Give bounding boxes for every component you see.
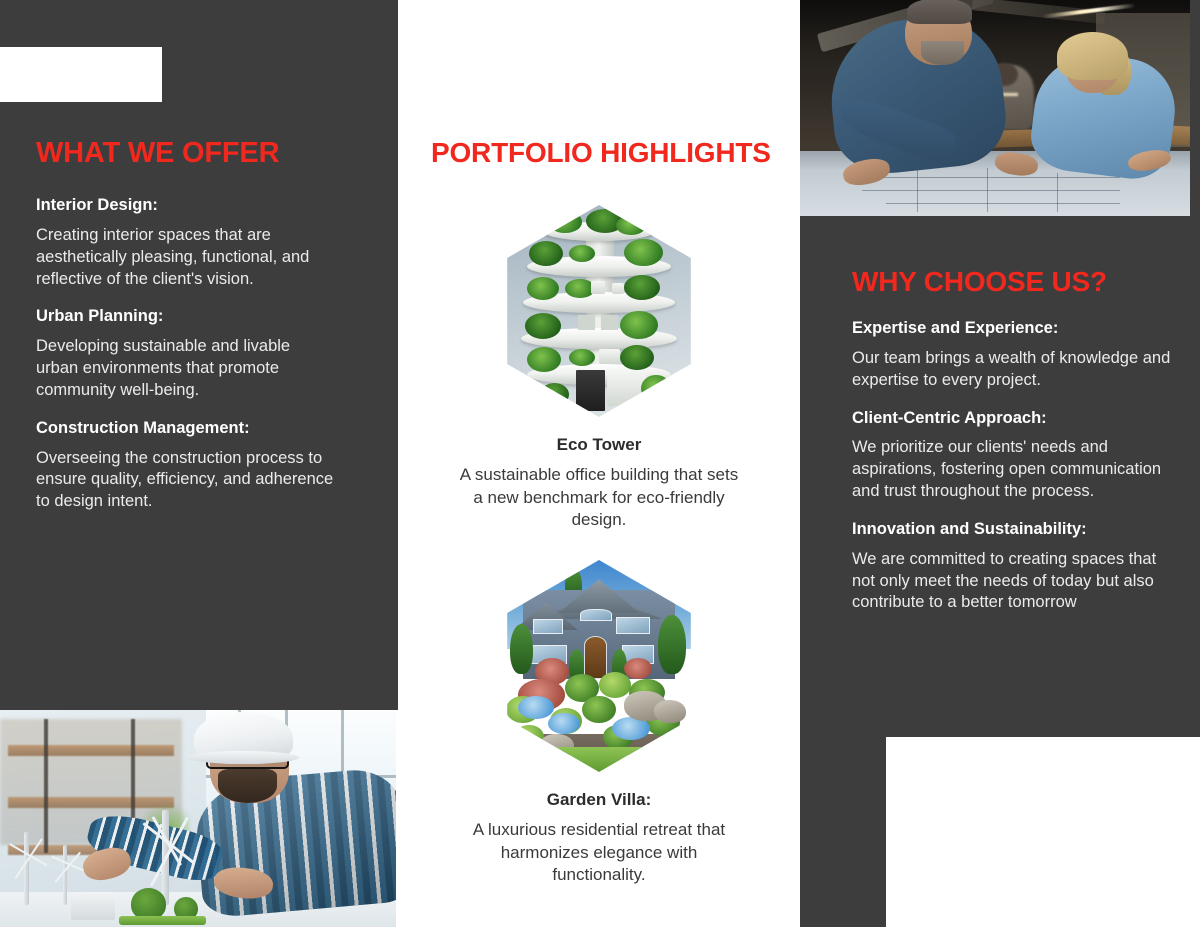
portfolio-highlights-heading: PORTFOLIO HIGHLIGHTS [431,138,771,167]
brochure-page: WHAT WE OFFER Interior Design: Creating … [0,0,1200,927]
service-body: Overseeing the construction process to e… [36,448,336,514]
what-we-offer-heading: WHAT WE OFFER [36,138,279,168]
hexagon-mask [493,205,705,417]
terrace-planter [599,349,620,364]
blueprint-line [987,168,988,211]
eco-tower-hexagon-image [493,205,705,417]
service-title: Construction Management: [36,418,336,439]
model-building [71,892,115,920]
turbine-tower-small [24,832,29,906]
front-lawn [493,747,705,772]
project-body: A luxurious residential retreat that har… [398,819,800,887]
service-body: Developing sustainable and livable urban… [36,336,336,402]
shelf-post [44,719,48,854]
service-item: Urban Planning: Developing sustainable a… [36,306,336,401]
project-title: Eco Tower [398,435,800,455]
terrace-planting [569,349,594,366]
villa-arch-window [580,609,612,622]
reason-body: We prioritize our clients' needs and asp… [852,437,1182,503]
landscape-rock [654,700,686,723]
project-body: A sustainable office building that sets … [398,464,800,532]
base-pavilion [607,370,645,406]
terrace-planting [624,239,662,267]
base-facade-panel [576,370,606,410]
service-item: Construction Management: Overseeing the … [36,418,336,513]
reason-body: We are committed to creating spaces that… [852,549,1182,615]
boxwood-shrub [599,672,631,697]
bottom-right-white-block [886,737,1200,927]
reason-body: Our team brings a wealth of knowledge an… [852,348,1182,392]
reason-title: Expertise and Experience: [852,318,1182,339]
garden-conifer [658,615,686,674]
blueprint-line [917,168,918,211]
villa-front-door [584,636,607,678]
reason-item: Client-Centric Approach: We prioritize o… [852,408,1182,503]
service-item: Interior Design: Creating interior space… [36,195,336,290]
shelf-board [8,745,174,756]
reason-title: Client-Centric Approach: [852,408,1182,429]
boxwood-shrub [582,696,616,724]
blueprint-line [886,203,1120,204]
terrace-planting [525,313,561,338]
service-title: Interior Design: [36,195,336,216]
terrace-planter [591,281,606,294]
villa-window [533,619,563,634]
garden-villa-hexagon-image [493,560,705,772]
turbine-tower-small [63,845,67,906]
why-choose-us-heading: WHY CHOOSE US? [852,267,1107,296]
project-title: Garden Villa: [398,790,800,810]
project-card: Garden Villa: A luxurious residential re… [398,560,800,887]
ground-planting [540,383,570,406]
architects-blueprint-photo [800,0,1190,216]
architect-man-beard [921,41,964,65]
reason-item: Expertise and Experience: Our team bring… [852,318,1182,392]
engineer-wind-turbine-model-photo [0,710,396,927]
architect-woman-hair [1057,32,1127,80]
services-list: Interior Design: Creating interior space… [36,195,336,513]
villa-window [616,617,650,634]
service-title: Urban Planning: [36,306,336,327]
blueprint-line [847,177,1120,178]
terrace-planting [569,245,594,262]
terrace-planting [548,211,582,232]
blue-flower-cluster [518,696,554,719]
tower-window [578,315,595,330]
red-maple-shrub [624,658,652,679]
terrace-planting [616,216,646,235]
reason-item: Innovation and Sustainability: We are co… [852,519,1182,614]
terrace-planting [620,311,658,339]
terrace-planter [612,283,625,294]
reasons-list: Expertise and Experience: Our team bring… [852,318,1182,614]
logo-placeholder-block [0,47,162,102]
garden-conifer [510,624,533,675]
blue-flower-cluster [548,713,580,734]
tower-window [601,315,618,330]
project-card: Eco Tower A sustainable office building … [398,205,800,532]
model-grass-patch [119,916,206,925]
architect-man-hair [907,0,971,24]
blueprint-line [862,190,1119,191]
terrace-planting [527,277,559,300]
service-body: Creating interior spaces that are aesthe… [36,225,336,291]
hexagon-mask [493,560,705,772]
blueprint-line [1057,173,1058,212]
ground-planting [641,375,671,403]
boxwood-shrub [514,725,544,748]
reason-title: Innovation and Sustainability: [852,519,1182,540]
